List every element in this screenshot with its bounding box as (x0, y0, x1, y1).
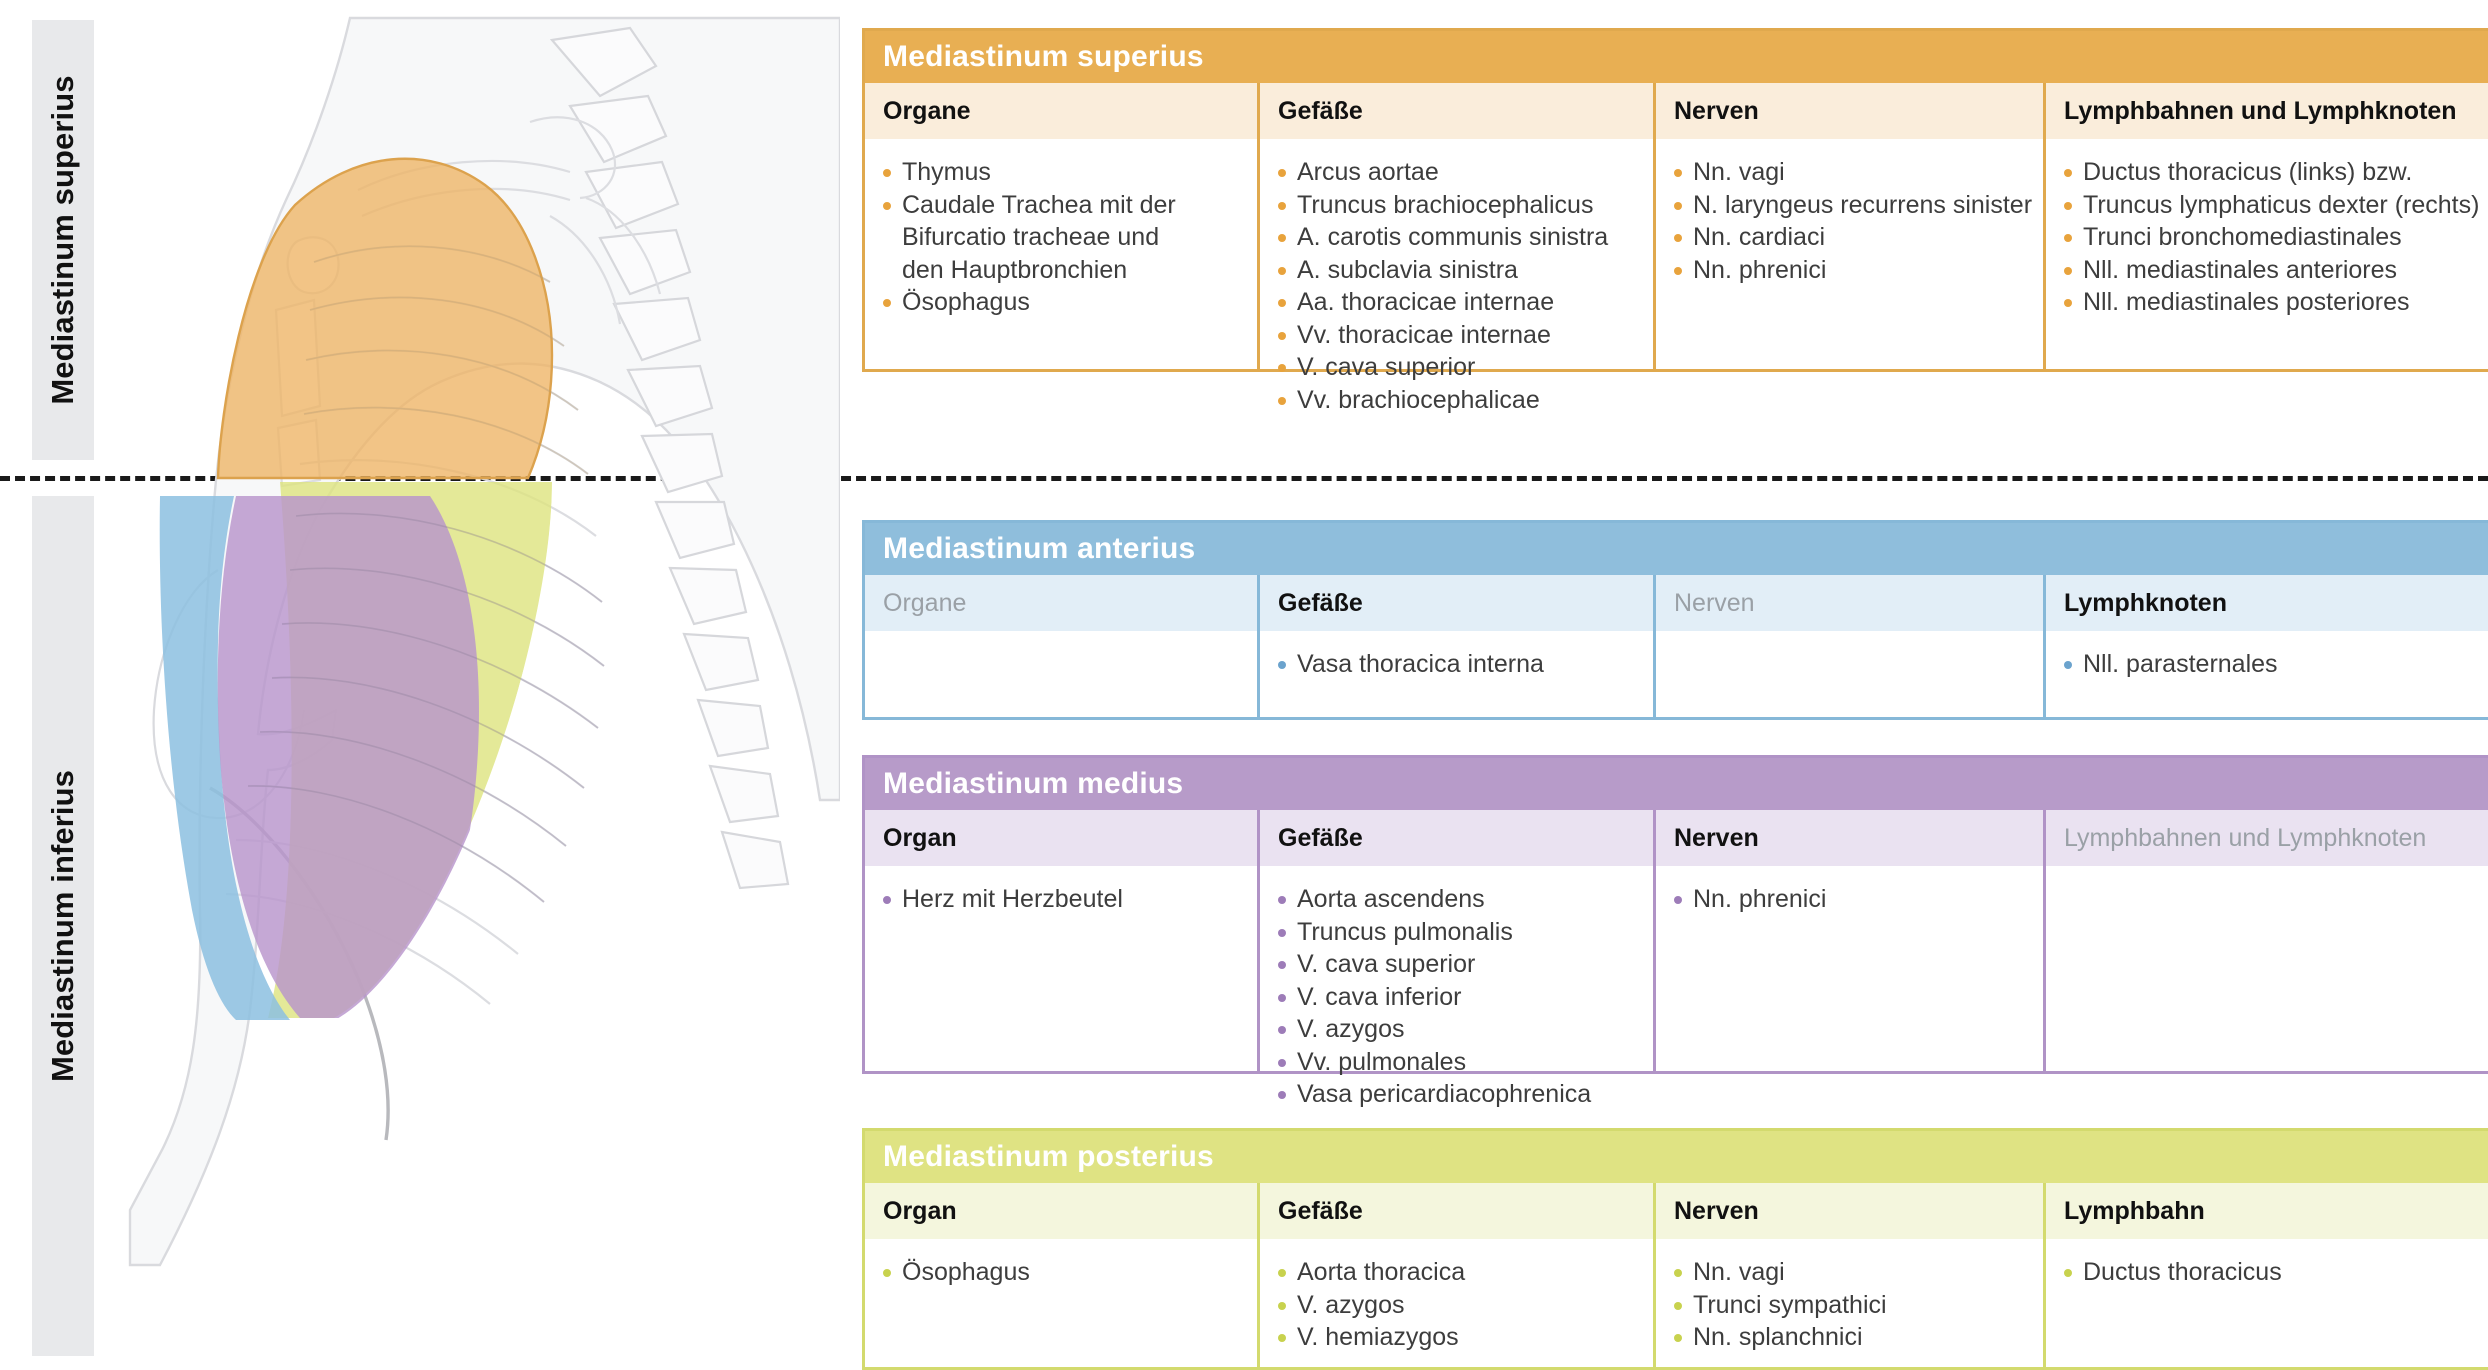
table-columns: Organe Thymus Caudale Trachea mit der Bi… (865, 83, 2488, 369)
column-body: Nn. vagi N. laryngeus recurrens sinister… (1656, 139, 2043, 369)
list-item: V. cava inferior (1278, 982, 1643, 1013)
table-mediastinum-posterius: Mediastinum posterius Organ Ösophagus Ge… (862, 1128, 2488, 1370)
column-header: Organ (865, 1183, 1257, 1239)
list-item: Truncus lymphaticus dexter (rechts) (2064, 190, 2488, 221)
column-body: Ösophagus (865, 1239, 1257, 1367)
rail-strip-inferius: Mediastinum inferius (32, 496, 94, 1356)
list-item: Nn. phrenici (1674, 255, 2033, 286)
table-title: Mediastinum medius (865, 758, 2488, 810)
list-item: N. laryngeus recurrens sinister (1674, 190, 2033, 221)
column-organ: Organ Ösophagus (865, 1183, 1257, 1367)
rail-label-superius: Mediastinum superius (45, 75, 81, 404)
list-item-continuation: den Hauptbronchien (883, 255, 1247, 286)
list-item: Truncus pulmonalis (1278, 917, 1643, 948)
column-header: Nerven (1656, 1183, 2043, 1239)
column-nerven: Nerven (1653, 575, 2043, 717)
rail-label-inferius: Mediastinum inferius (45, 770, 81, 1082)
column-gefaesse: Gefäße Aorta ascendens Truncus pulmonali… (1257, 810, 1653, 1071)
list-item: Vv. thoracicae internae (1278, 320, 1643, 351)
column-header: Nerven (1656, 83, 2043, 139)
column-lymphknoten: Lymphknoten Nll. parasternales (2043, 575, 2488, 717)
column-body (865, 631, 1257, 717)
list-item: Aorta ascendens (1278, 884, 1643, 915)
column-body: Nn. vagi Trunci sympathici Nn. splanchni… (1656, 1239, 2043, 1367)
column-body (2046, 866, 2488, 1071)
column-header: Gefäße (1260, 83, 1653, 139)
list-item: Aa. thoracicae internae (1278, 287, 1643, 318)
list-item-continuation: Bifurcatio tracheae und (883, 222, 1247, 253)
column-header: Nerven (1656, 575, 2043, 631)
column-header: Gefäße (1260, 575, 1653, 631)
table-title: Mediastinum anterius (865, 523, 2488, 575)
column-body: Arcus aortae Truncus brachiocephalicus A… (1260, 139, 1653, 369)
list-item: Vasa pericardiacophrenica (1278, 1079, 1643, 1110)
list-item: V. cava superior (1278, 949, 1643, 980)
list-item: Truncus brachiocephalicus (1278, 190, 1643, 221)
list-item: Vv. pulmonales (1278, 1047, 1643, 1078)
column-header: Gefäße (1260, 1183, 1653, 1239)
column-header: Gefäße (1260, 810, 1653, 866)
column-nerven: Nerven Nn. phrenici (1653, 810, 2043, 1071)
thorax-illustration (100, 10, 840, 1270)
column-gefaesse: Gefäße Arcus aortae Truncus brachiocepha… (1257, 83, 1653, 369)
list-item: V. azygos (1278, 1290, 1643, 1321)
list-item: Nn. vagi (1674, 1257, 2033, 1288)
region-label-rail: Mediastinum superius Mediastinum inferiu… (0, 0, 112, 1368)
list-item: Aorta thoracica (1278, 1257, 1643, 1288)
column-nerven: Nerven Nn. vagi Trunci sympathici Nn. sp… (1653, 1183, 2043, 1367)
list-item: Vasa thoracica interna (1278, 649, 1643, 680)
column-lymphbahnen-lymphknoten: Lymphbahnen und Lymphknoten (2043, 810, 2488, 1071)
region-mediastinum-medius (218, 496, 479, 1018)
column-organe: Organe (865, 575, 1257, 717)
list-item: Nll. mediastinales posteriores (2064, 287, 2488, 318)
list-item: Trunci sympathici (1674, 1290, 2033, 1321)
column-header: Organe (865, 83, 1257, 139)
column-nerven: Nerven Nn. vagi N. laryngeus recurrens s… (1653, 83, 2043, 369)
list-item: A. subclavia sinistra (1278, 255, 1643, 286)
list-item: Trunci bronchomediastinales (2064, 222, 2488, 253)
list-item: Nll. mediastinales anteriores (2064, 255, 2488, 286)
list-item: Nn. vagi (1674, 157, 2033, 188)
column-body: Ductus thoracicus (links) bzw. Truncus l… (2046, 139, 2488, 369)
list-item: Nll. parasternales (2064, 649, 2488, 680)
list-item: Nn. cardiaci (1674, 222, 2033, 253)
column-header: Lymphknoten (2046, 575, 2488, 631)
column-body: Vasa thoracica interna (1260, 631, 1653, 717)
column-header: Nerven (1656, 810, 2043, 866)
column-header: Organ (865, 810, 1257, 866)
table-columns: Organ Herz mit Herzbeutel Gefäße Aorta a… (865, 810, 2488, 1071)
column-body: Aorta thoracica V. azygos V. hemiazygos (1260, 1239, 1653, 1367)
list-item: A. carotis communis sinistra (1278, 222, 1643, 253)
list-item: Thymus (883, 157, 1247, 188)
table-title: Mediastinum posterius (865, 1131, 2488, 1183)
list-item: V. cava superior (1278, 352, 1643, 383)
column-header: Lymphbahnen und Lymphknoten (2046, 810, 2488, 866)
table-columns: Organ Ösophagus Gefäße Aorta thoracica V… (865, 1183, 2488, 1367)
list-item: Vv. brachiocephalicae (1278, 385, 1643, 416)
list-item: Ösophagus (883, 1257, 1247, 1288)
column-body: Thymus Caudale Trachea mit der Bifurcati… (865, 139, 1257, 369)
table-mediastinum-medius: Mediastinum medius Organ Herz mit Herzbe… (862, 755, 2488, 1074)
column-header: Lymphbahn (2046, 1183, 2488, 1239)
column-gefaesse: Gefäße Aorta thoracica V. azygos V. hemi… (1257, 1183, 1653, 1367)
list-item: Ösophagus (883, 287, 1247, 318)
list-item: Herz mit Herzbeutel (883, 884, 1247, 915)
list-item: Nn. phrenici (1674, 884, 2033, 915)
rail-strip-superius: Mediastinum superius (32, 20, 94, 460)
list-item: V. azygos (1278, 1014, 1643, 1045)
table-title: Mediastinum superius (865, 31, 2488, 83)
list-item: Caudale Trachea mit der (883, 190, 1247, 221)
column-body: Nll. parasternales (2046, 631, 2488, 717)
column-header: Organe (865, 575, 1257, 631)
column-body: Herz mit Herzbeutel (865, 866, 1257, 1071)
table-mediastinum-superius: Mediastinum superius Organe Thymus Cauda… (862, 28, 2488, 372)
column-gefaesse: Gefäße Vasa thoracica interna (1257, 575, 1653, 717)
column-lymphbahnen-lymphknoten: Lymphbahnen und Lymphknoten Ductus thora… (2043, 83, 2488, 369)
column-organ: Organ Herz mit Herzbeutel (865, 810, 1257, 1071)
column-body: Nn. phrenici (1656, 866, 2043, 1071)
column-body: Ductus thoracicus (2046, 1239, 2488, 1367)
column-body: Aorta ascendens Truncus pulmonalis V. ca… (1260, 866, 1653, 1071)
column-header: Lymphbahnen und Lymphknoten (2046, 83, 2488, 139)
column-lymphbahn: Lymphbahn Ductus thoracicus (2043, 1183, 2488, 1367)
table-mediastinum-anterius: Mediastinum anterius Organe Gefäße Vasa … (862, 520, 2488, 720)
list-item: Arcus aortae (1278, 157, 1643, 188)
list-item: Ductus thoracicus (links) bzw. (2064, 157, 2488, 188)
list-item: Ductus thoracicus (2064, 1257, 2488, 1288)
list-item: V. hemiazygos (1278, 1322, 1643, 1353)
table-columns: Organe Gefäße Vasa thoracica interna Ner… (865, 575, 2488, 717)
column-organe: Organe Thymus Caudale Trachea mit der Bi… (865, 83, 1257, 369)
column-body (1656, 631, 2043, 717)
list-item: Nn. splanchnici (1674, 1322, 2033, 1353)
